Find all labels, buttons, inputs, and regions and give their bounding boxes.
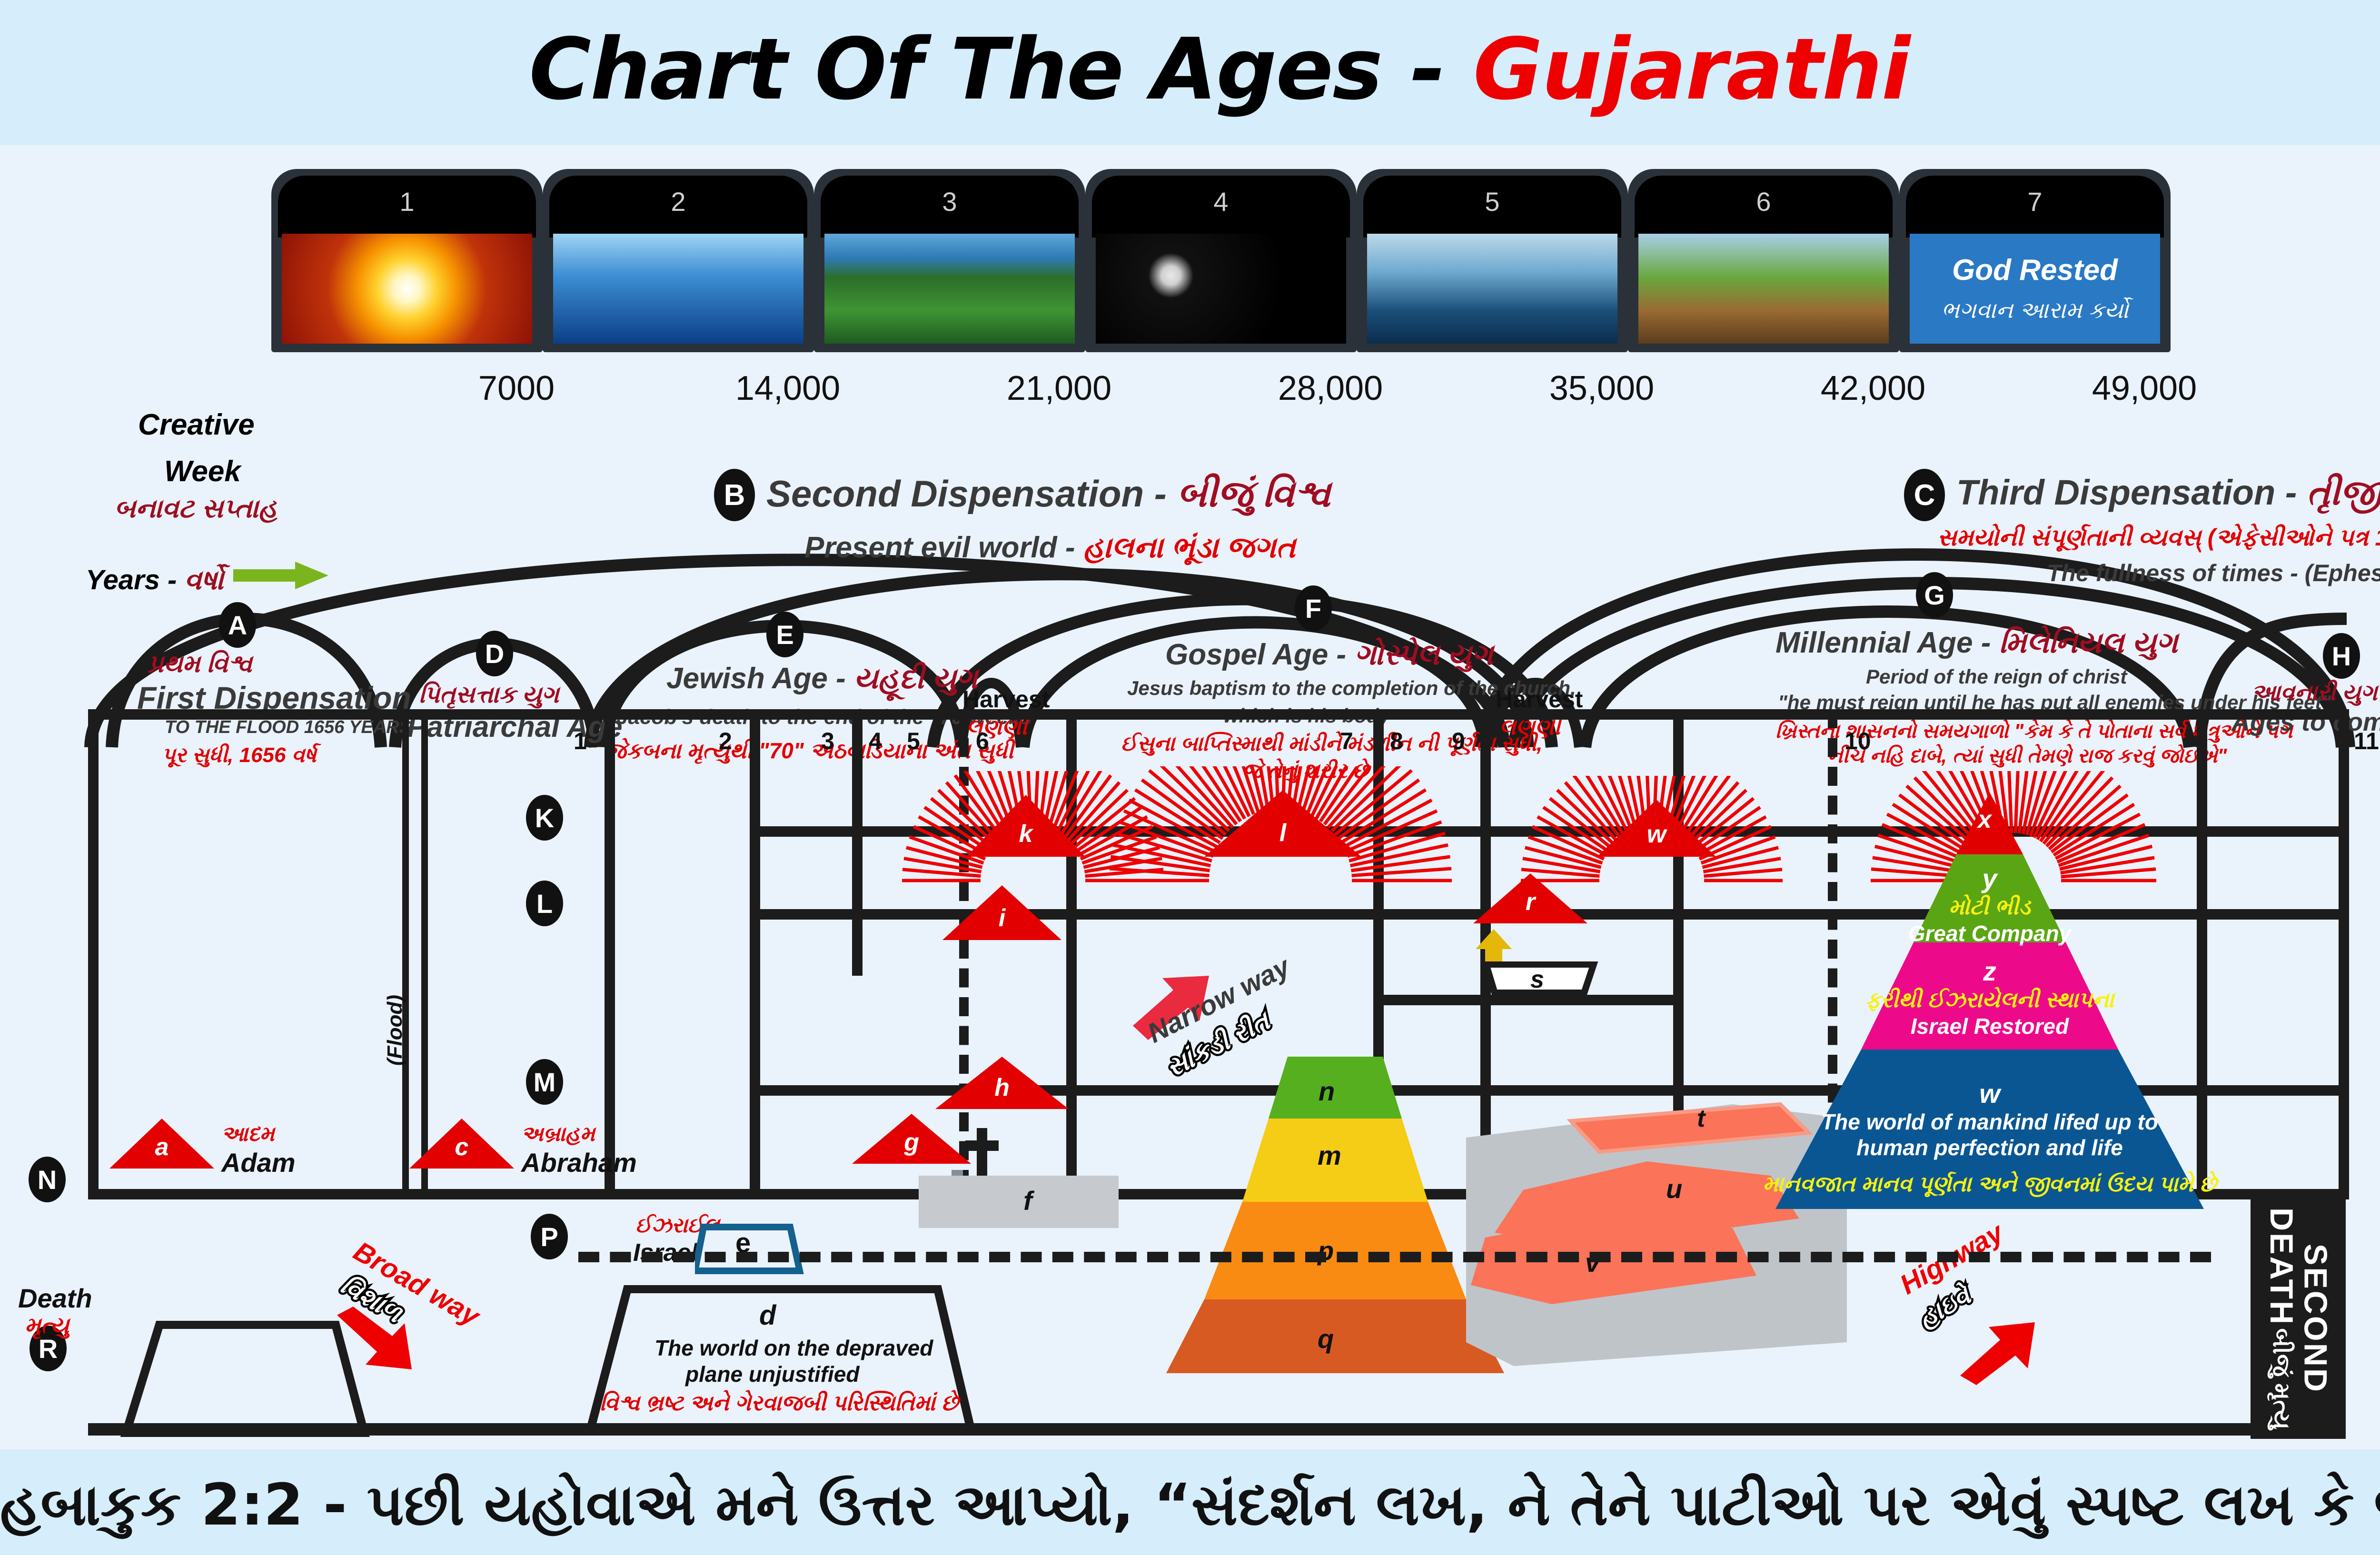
panel-number-7: 7 [1906,176,2164,238]
panel-art-night [1096,234,1346,344]
highway-arrow-icon [1956,1318,2037,1385]
badge-f: F [1295,585,1332,631]
badge-b: B [714,469,755,521]
badge-e: E [766,612,803,657]
third-dispensation-sub-gu: સમયોની સંપૂર્ણતાની વ્યવસ્ (એફેસીઓને પત્ર… [1937,524,2380,552]
title-language: Gujarathi [1473,20,1910,119]
column-number-1: 1 [574,727,587,755]
column-number-5: 5 [907,727,920,755]
third-dispensation-sub-en: The fullness of times - (Ephesians 1:10) [2047,559,2380,587]
millennial-segment-w-gu: માનવજાત માનવ પૂર્ણતા અને જીવનમાં ઉદય પામ… [1763,1171,2216,1198]
year-tick-42000: 42,000 [1737,369,2009,408]
slab-t-label: t [1697,1104,1705,1133]
title-band: Chart Of The Ages - Gujarathi [0,0,2380,145]
creative-week-section: Creative Week બનાવટ સપ્તાહ Years - વર્ષો… [0,164,2380,436]
creative-week-label-line1: Creative [138,408,255,442]
slab-f-block [919,1176,1119,1228]
pyramid-segment-q: q [1318,1323,1334,1354]
creative-day-panel-2[interactable]: 2 [543,169,814,352]
millennial-age-title-en: Millennial Age - [1775,626,1999,659]
badge-n: N [29,1157,66,1202]
marker-triangle-c: c [409,1119,514,1169]
patriarchal-age-title-gu: પિતૃસત્તાક યુગ [419,681,559,709]
millennial-segment-y-gu: મોટી ભીડ [1949,894,2031,921]
pyramid-segment-n: n [1319,1076,1335,1107]
panel-art-god-rested: God Rested ભગવાન આરામ કર્યો [1910,234,2160,344]
ages-diagram: B Second Dispensation - બીજું વિશ્વ Pres… [0,443,2380,1452]
grid-col-1 [605,709,615,1199]
second-dispensation-title: Second Dispensation - બીજું વિશ્વ [766,472,1330,516]
third-dispensation-title-gu: તૃીજી દુનિયા [2307,473,2380,512]
millennial-segment-z-gu: ફરીથી ઈઝરાયેલની સ્થાપના [1865,987,2114,1013]
millennial-segment-z-en: Israel Restored [1911,1013,2069,1039]
column-number-10: 10 [1844,727,1871,755]
badge-g: G [1916,572,1953,618]
grid-col-9 [2339,709,2349,1199]
second-dispensation-subtitle: Present evil world - હાલના ભૂંડા જગત [804,531,1296,565]
column-number-8: 8 [1390,727,1403,755]
broad-way-arrow-icon [333,1307,414,1373]
badge-k: K [526,795,563,841]
grid-col-2 [750,709,760,1199]
millennial-segment-x: x [1978,805,1992,834]
marker-triangle-i: i [942,885,1061,940]
panel-art-water [553,234,803,344]
badge-l: L [526,881,563,926]
first-dispensation-title-gu: પ્રથમ વિશ્વ [148,650,252,679]
title-main: Chart Of The Ages - [529,20,1473,119]
panel-art-birds [1367,234,1617,344]
millennial-segment-w-en1: The world of mankind lifed up to [1821,1109,2158,1135]
panel-number-3: 3 [821,176,1079,238]
jewish-age-title-en: Jewish Age - [666,662,854,695]
millennial-segment-y-key: y [1982,863,1997,894]
millennial-age-sub-en-1: Period of the reign of christ [1866,665,2127,688]
second-dispensation-title-gu: બીજું વિશ્વ [1177,473,1330,515]
footer-verse: હબાકુક 2:2 - પછી યહોવાએ મને ઉત્તર આપ્યો,… [0,1472,2380,1539]
creative-day-panel-6[interactable]: 6 [1628,169,1899,352]
millennial-segment-y: y મોટી ભીડ Great Company [1875,866,2104,942]
death-label-en: Death [18,1283,92,1314]
slab-f-label: f [1023,1185,1032,1216]
column-number-6: 6 [976,727,989,755]
slab-u-label: u [1666,1173,1682,1204]
badge-d: D [476,631,513,676]
depraved-en-2: plane unjustified [685,1361,859,1387]
year-tick-21000: 21,000 [923,369,1195,408]
gospel-age-title-gu: ગોસ્પેલ યુગ [1354,638,1493,671]
year-tick-7000: 7000 [381,369,652,408]
abraham-label-gu: અબ્રાહમ [521,1122,595,1146]
year-tick-49000: 49,000 [2009,369,2280,408]
column-number-2: 2 [719,727,732,755]
creative-day-panel-5[interactable]: 5 [1357,169,1628,352]
panel-art-explosion [282,234,532,344]
badge-a: A [219,602,256,648]
marker-triangle-w: w [1597,800,1716,857]
column-number-9: 9 [1452,727,1465,755]
second-dispensation-subtitle-en: Present evil world - [804,531,1083,564]
panel-number-4: 4 [1092,176,1350,238]
marker-triangle-k: k [966,795,1085,857]
flood-line-a [402,709,409,1199]
god-rested-title-gu: ભગવાન આરામ કર્યો [1941,297,2129,324]
gospel-age-title: Gospel Age - ગોસ્પેલ યુગ [1165,638,1493,672]
panel-number-2: 2 [549,176,807,238]
marker-triangle-l: l [1204,790,1361,857]
millennial-age-title: Millennial Age - મિલેનિયલ યુગ [1775,626,2178,660]
millennial-segment-w: w The world of mankind lifed up to human… [1752,1071,2228,1204]
year-tick-35000: 35,000 [1466,369,1737,408]
cross-icon-1 [962,1128,1001,1176]
depraved-en-1: The world on the depraved [654,1335,933,1361]
badge-h: H [2323,633,2360,679]
millennial-segment-z: z ફરીથી ઈઝરાયેલની સ્થાપના Israel Restore… [1814,950,2166,1045]
gospel-age-title-en: Gospel Age - [1165,638,1354,671]
year-tick-14000: 14,000 [652,369,923,408]
year-tick-28000: 28,000 [1195,369,1466,408]
millennial-age-title-gu: મિલેનિયલ યુગ [1999,626,2178,659]
column-number-4: 4 [869,727,882,755]
death-label-gu: મૃત્યુ [25,1313,69,1339]
third-dispensation-title: Third Dispensation - તૃીજી દુનિયા [1956,472,2380,514]
column-number-7: 7 [1340,727,1353,755]
column-number-3: 3 [821,727,834,755]
creative-day-panel-4[interactable]: 4 [1085,169,1357,352]
depraved-key: d [759,1299,776,1331]
second-death-column: SECOND DEATH બીજું મૃત્યુ [2251,1198,2346,1439]
grid-col-0 [88,709,99,1199]
pyramid-segment-m: m [1318,1140,1341,1171]
slab-s-label: s [1530,965,1544,994]
panel-art-land [824,234,1075,344]
depraved-gu: વિશ્વ ભ્રષ્ટ અને ગેરવાજબી પરિસ્થિતિમાં છ… [600,1390,958,1416]
jewish-age-title: Jewish Age - યહૂદી યુગ [666,662,978,696]
second-dispensation-title-en: Second Dispensation - [766,473,1177,515]
millennial-segment-z-key: z [1983,956,1996,987]
badge-c: C [1904,469,1945,521]
second-dispensation-subtitle-gu: હાલના ભૂંડા જગત [1083,531,1296,564]
creative-day-panel-7[interactable]: 7 God Rested ભગવાન આરામ કર્યો [1899,169,2171,352]
creative-day-panel-3[interactable]: 3 [814,169,1085,352]
jewish-age-title-gu: યહૂદી યુગ [854,662,978,695]
adam-label-en: Adam [221,1147,296,1178]
adam-label-gu: આદમ [221,1122,275,1146]
marker-triangle-g: g [852,1114,971,1164]
marker-triangle-a: a [109,1119,214,1169]
second-death-label-gu: બીજું મૃત્યુ [2268,1328,2295,1430]
marker-triangle-r: r [1473,873,1587,923]
third-dispensation-title-en: Third Dispensation - [1956,473,2307,512]
panel-art-animals [1638,234,1889,344]
millennial-segment-w-key: w [1979,1078,2000,1109]
ages-to-come-title-gu: આવનારી યુગ [2251,680,2378,706]
column-number-11: 11 [2354,727,2379,755]
abraham-label-en: Abraham [521,1147,637,1178]
footer-band: હબાકુક 2:2 - પછી યહોવાએ મને ઉત્તર આપ્યો,… [0,1449,2380,1555]
flood-label: (Flood) [383,995,407,1066]
millennial-segment-w-en2: human perfection and life [1856,1135,2123,1160]
panel-number-6: 6 [1635,176,1893,238]
badge-m: M [526,1059,563,1105]
grid-col-3 [852,709,863,976]
panel-number-5: 5 [1363,176,1621,238]
badge-p: P [531,1214,568,1259]
dashed-plane-line [578,1252,2211,1262]
god-rested-title-en: God Rested [1952,253,2118,287]
diagram-baseline [88,1423,2251,1436]
marker-triangle-h: h [935,1057,1069,1109]
millennial-segment-y-en: Great Company [1908,921,2072,946]
creative-day-panel-1[interactable]: 1 [271,169,543,352]
page-title: Chart Of The Ages - Gujarathi [0,20,2380,119]
panel-number-1: 1 [278,176,536,238]
